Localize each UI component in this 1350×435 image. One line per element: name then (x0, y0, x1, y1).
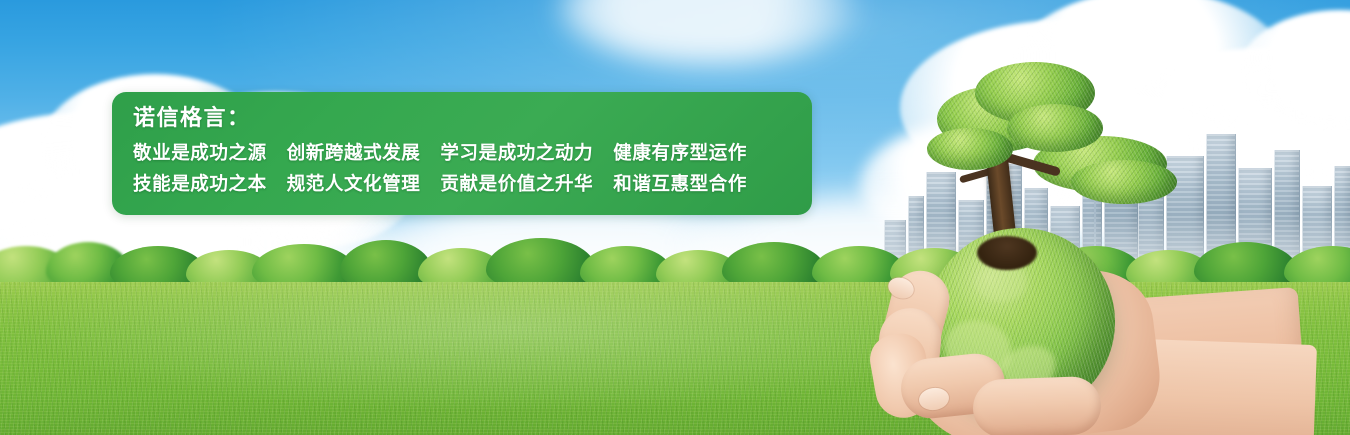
motto-line-2: 技能是成功之本规范人文化管理贡献是价值之升华和谐互惠型合作 (133, 169, 812, 200)
finger (972, 376, 1102, 435)
bonsai-canopy (1007, 104, 1103, 152)
motto-segment: 贡献是价值之升华 (440, 174, 593, 195)
motto-segment: 学习是成功之动力 (440, 143, 593, 164)
banner-image: 诺信格言： 敬业是成功之源创新跨越式发展学习是成功之动力健康有序型运作 技能是成… (0, 0, 1350, 435)
motto-title: 诺信格言： (133, 106, 812, 132)
motto-segment: 规范人文化管理 (287, 174, 421, 195)
motto-line-1: 敬业是成功之源创新跨越式发展学习是成功之动力健康有序型运作 (133, 138, 812, 169)
bonsai-canopy (927, 128, 1013, 170)
bonsai-root-base (977, 236, 1037, 270)
hands-holding-globe (855, 40, 1285, 435)
motto-panel: 诺信格言： 敬业是成功之源创新跨越式发展学习是成功之动力健康有序型运作 技能是成… (112, 92, 812, 215)
motto-segment: 和谐互惠型合作 (613, 174, 747, 195)
bonsai-canopy (1071, 160, 1177, 204)
motto-segment: 健康有序型运作 (613, 143, 747, 164)
motto-segment: 技能是成功之本 (133, 174, 267, 195)
motto-segment: 创新跨越式发展 (287, 143, 421, 164)
motto-segment: 敬业是成功之源 (133, 143, 267, 164)
